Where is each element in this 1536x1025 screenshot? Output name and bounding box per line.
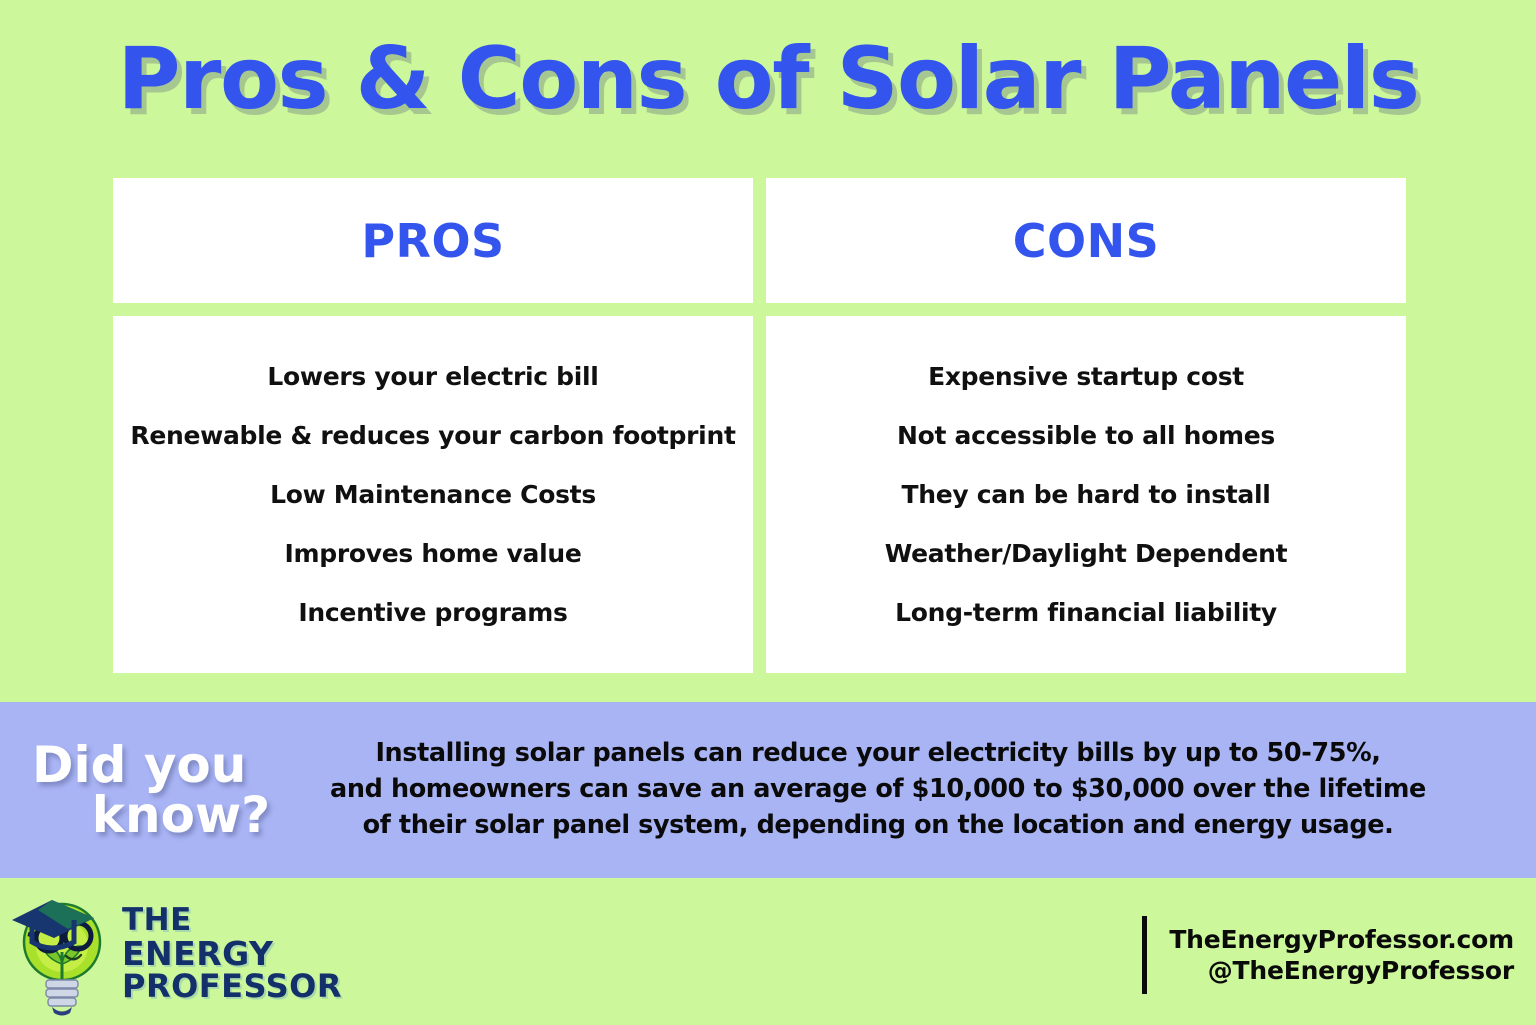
list-item: They can be hard to install xyxy=(901,480,1270,510)
list-item: Not accessible to all homes xyxy=(897,421,1275,451)
brand-word-professor: PROFESSOR xyxy=(122,970,342,1003)
cons-list-card: Expensive startup cost Not accessible to… xyxy=(766,316,1406,673)
list-item: Expensive startup cost xyxy=(928,362,1244,392)
list-item: Lowers your electric bill xyxy=(267,362,598,392)
did-you-know-band: Did you know? Installing solar panels ca… xyxy=(0,702,1536,878)
list-item: Incentive programs xyxy=(298,598,567,628)
did-you-know-title-line2: know? xyxy=(32,790,330,840)
did-you-know-text: Installing solar panels can reduce your … xyxy=(330,736,1536,843)
list-item: Weather/Daylight Dependent xyxy=(885,539,1287,569)
website-link[interactable]: TheEnergyProfessor.com xyxy=(1169,924,1514,955)
fact-line-1: Installing solar panels can reduce your … xyxy=(330,736,1426,772)
footer: THE ENERGY PROFESSOR TheEnergyProfessor.… xyxy=(0,878,1536,1025)
fact-line-3: of their solar panel system, depending o… xyxy=(330,808,1426,844)
table-body-row: Lowers your electric bill Renewable & re… xyxy=(113,316,1406,673)
brand-word-the: THE xyxy=(122,905,342,937)
page-title: Pros & Cons of Solar Panels xyxy=(0,30,1536,129)
table-header-row: PROS CONS xyxy=(113,178,1406,303)
pros-list-card: Lowers your electric bill Renewable & re… xyxy=(113,316,753,673)
footer-divider xyxy=(1142,916,1147,994)
fact-line-2: and homeowners can save an average of $1… xyxy=(330,772,1426,808)
brand-wordmark: THE ENERGY PROFESSOR xyxy=(122,905,342,1003)
pros-heading: PROS xyxy=(361,214,504,268)
footer-contact: TheEnergyProfessor.com @TheEnergyProfess… xyxy=(1142,916,1514,994)
brand-logo: THE ENERGY PROFESSOR xyxy=(8,890,342,1018)
graduate-lightbulb-icon xyxy=(8,890,116,1018)
cons-header-card: CONS xyxy=(766,178,1406,303)
list-item: Long-term financial liability xyxy=(895,598,1277,628)
pros-cons-table: PROS CONS Lowers your electric bill Rene… xyxy=(113,178,1406,673)
pros-header-card: PROS xyxy=(113,178,753,303)
footer-links: TheEnergyProfessor.com @TheEnergyProfess… xyxy=(1169,924,1514,987)
cons-heading: CONS xyxy=(1013,214,1160,268)
social-handle[interactable]: @TheEnergyProfessor xyxy=(1169,955,1514,986)
brand-word-energy: ENERGY xyxy=(122,937,342,971)
list-item: Low Maintenance Costs xyxy=(270,480,596,510)
did-you-know-title-line1: Did you xyxy=(32,740,330,790)
did-you-know-title: Did you know? xyxy=(0,740,330,840)
list-item: Improves home value xyxy=(284,539,581,569)
list-item: Renewable & reduces your carbon footprin… xyxy=(130,421,735,451)
